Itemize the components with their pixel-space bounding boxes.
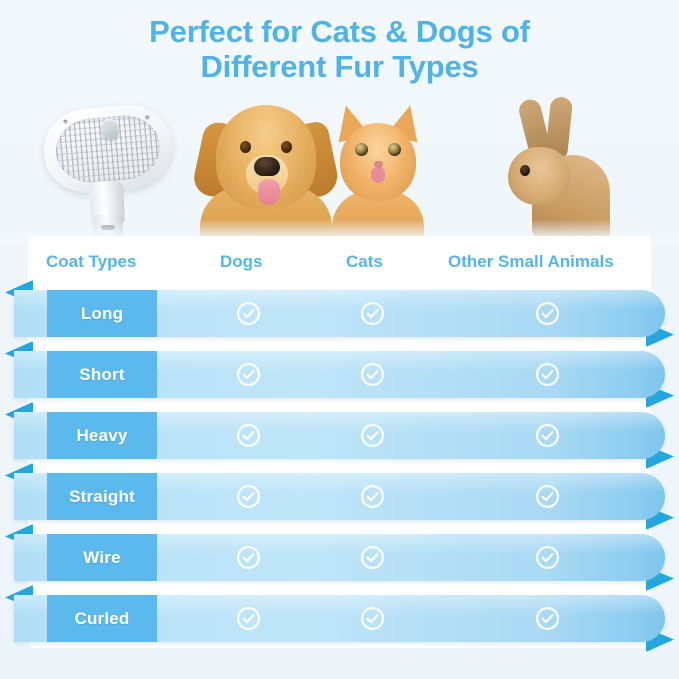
table-header-row: Coat Types Dogs Cats Other Small Animals <box>28 252 651 286</box>
dog-tongue <box>258 179 280 205</box>
check-circle-icon <box>360 362 385 387</box>
rabbit-head <box>508 147 570 205</box>
column-header-other-small-animals: Other Small Animals <box>448 252 614 272</box>
dog-eye-left <box>240 141 251 153</box>
check-circle-icon <box>535 423 560 448</box>
check-circle-icon <box>535 484 560 509</box>
page-title: Perfect for Cats & Dogs of Different Fur… <box>0 14 679 84</box>
table-row: Straight <box>0 473 679 520</box>
check-circle-icon <box>236 484 261 509</box>
table-row: Long <box>0 290 679 337</box>
cat-nose <box>374 161 383 168</box>
check-circle-icon <box>236 606 261 631</box>
rabbit-eye <box>520 165 530 176</box>
coat-type-chip: Curled <box>47 595 157 642</box>
column-header-coat-types: Coat Types <box>46 252 136 272</box>
check-circle-icon <box>236 362 261 387</box>
brush-retract-button <box>100 118 119 140</box>
column-header-cats: Cats <box>346 252 383 272</box>
coat-type-chip: Wire <box>47 534 157 581</box>
check-circle-icon <box>236 301 261 326</box>
coat-type-label: Curled <box>74 609 129 629</box>
check-circle-icon <box>535 606 560 631</box>
check-circle-icon <box>535 301 560 326</box>
column-header-dogs: Dogs <box>220 252 263 272</box>
dog-nose <box>254 157 280 176</box>
check-circle-icon <box>360 606 385 631</box>
check-circle-icon <box>360 423 385 448</box>
hero-image-strip <box>0 95 679 245</box>
check-circle-icon <box>236 545 261 570</box>
coat-type-chip: Short <box>47 351 157 398</box>
coat-type-label: Wire <box>83 548 121 568</box>
coat-type-chip: Straight <box>47 473 157 520</box>
table-row: Curled <box>0 595 679 642</box>
check-circle-icon <box>360 484 385 509</box>
product-infographic-page: Perfect for Cats & Dogs of Different Fur… <box>0 0 679 679</box>
page-title-line-1: Perfect for Cats & Dogs of <box>0 14 679 49</box>
check-circle-icon <box>535 362 560 387</box>
comparison-table-rows: LongShortHeavyStraightWireCurled <box>0 290 679 655</box>
page-title-line-2: Different Fur Types <box>0 49 679 84</box>
table-row: Heavy <box>0 412 679 459</box>
check-circle-icon <box>535 545 560 570</box>
table-row: Short <box>0 351 679 398</box>
coat-type-label: Short <box>79 365 124 385</box>
coat-type-label: Straight <box>69 487 135 507</box>
table-row: Wire <box>0 534 679 581</box>
cat-tongue <box>371 167 385 183</box>
coat-type-chip: Heavy <box>47 412 157 459</box>
check-circle-icon <box>360 545 385 570</box>
brush-screw-dot <box>63 119 67 123</box>
brush-screw-dot <box>145 115 149 119</box>
cat-eye-right <box>388 143 401 156</box>
check-circle-icon <box>360 301 385 326</box>
coat-type-label: Long <box>81 304 123 324</box>
dog-eye-right <box>281 141 292 153</box>
coat-type-chip: Long <box>47 290 157 337</box>
cat-eye-left <box>355 143 368 156</box>
coat-type-label: Heavy <box>76 426 127 446</box>
check-circle-icon <box>236 423 261 448</box>
